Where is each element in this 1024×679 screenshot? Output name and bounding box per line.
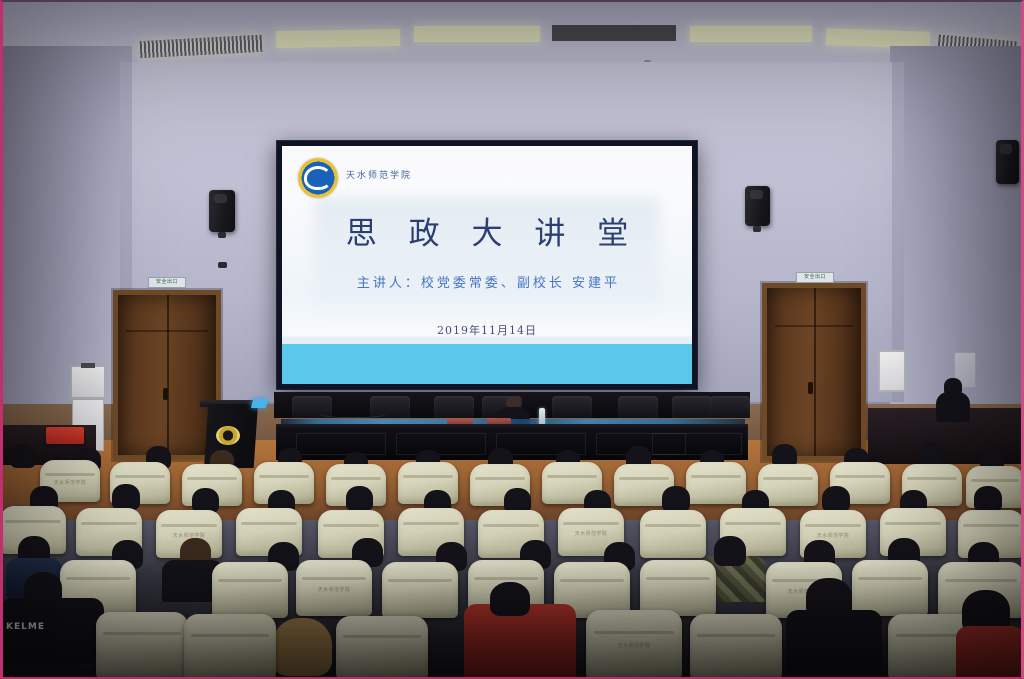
university-logo-icon xyxy=(298,158,338,198)
seat-print: 天水师范学院 xyxy=(800,532,866,539)
exit-sign-right: 安全出口 xyxy=(796,272,834,283)
audience-person xyxy=(490,582,530,616)
audience-person xyxy=(112,484,140,510)
audience-person xyxy=(714,536,746,566)
university-name-label: 天水师范学院 xyxy=(346,168,412,181)
ceiling-light-2 xyxy=(276,29,400,48)
noticeboard-left xyxy=(70,365,106,399)
auditorium-seat xyxy=(690,614,782,679)
seat-print: 天水师范学院 xyxy=(558,530,624,537)
auditorium-seat: 天水师范学院 xyxy=(296,560,372,616)
ceiling-light-3 xyxy=(414,26,540,42)
slide-subtitle-speaker: 主讲人：校党委常委、副校长 安建平 xyxy=(282,272,692,291)
audience-jacket xyxy=(786,610,882,679)
water-bottle-icon xyxy=(539,408,545,425)
audience-person xyxy=(662,486,690,512)
speaker-mount-right xyxy=(753,226,761,232)
audience-person xyxy=(10,444,36,468)
audience-person xyxy=(822,486,850,512)
ceiling-light-4 xyxy=(690,26,812,42)
door-right[interactable] xyxy=(762,283,866,461)
slide-title: 思 政 大 讲 堂 xyxy=(282,208,692,253)
wall-speaker-right-icon xyxy=(745,186,770,226)
auditorium-room: 天水师范学院 思 政 大 讲 堂 主讲人：校党委常委、副校长 安建平 2019年… xyxy=(0,0,1024,679)
auditorium-seat xyxy=(686,462,746,504)
audience-person xyxy=(974,486,1002,512)
auditorium-seat xyxy=(640,560,716,616)
audience-person xyxy=(24,572,62,606)
jacket-brand-label: KELME xyxy=(6,622,45,632)
projection-screen: 天水师范学院 思 政 大 讲 堂 主讲人：校党委常委、副校长 安建平 2019年… xyxy=(277,141,697,389)
exit-sign-left: 安全出口 xyxy=(148,277,186,288)
photo-canvas: 天水师范学院 思 政 大 讲 堂 主讲人：校党委常委、副校长 安建平 2019年… xyxy=(0,0,1024,679)
audience-person-blonde xyxy=(272,618,332,676)
podium-screen-icon xyxy=(251,399,268,408)
seat-print: 天水师范学院 xyxy=(586,642,682,649)
wall-speaker-left-icon xyxy=(209,190,235,232)
door-handle-right[interactable] xyxy=(808,382,813,394)
auditorium-seat xyxy=(852,560,928,616)
auditorium-seat xyxy=(96,612,188,679)
presidium-chair-5 xyxy=(552,396,592,418)
door-handle-left[interactable] xyxy=(163,388,168,400)
ceiling-vent-2 xyxy=(552,25,676,41)
presidium-chair-7 xyxy=(672,396,712,418)
auditorium-seat xyxy=(212,562,288,618)
noticeboard-clip xyxy=(81,363,95,368)
audience-person xyxy=(918,442,944,466)
cable-anchor-left xyxy=(218,262,227,268)
auditorium-seat xyxy=(336,616,428,679)
seat-print: 天水师范学院 xyxy=(40,479,100,486)
door-left[interactable] xyxy=(113,290,221,460)
presidium-chair-8 xyxy=(710,396,750,418)
auditorium-seat: 天水师范学院 xyxy=(586,610,682,679)
speaker-mount-left xyxy=(218,232,226,238)
presidium-chair-6 xyxy=(618,396,658,418)
wall-speaker-corner-icon xyxy=(996,140,1019,184)
auditorium-seat xyxy=(640,510,706,558)
seat-print: 天水师范学院 xyxy=(296,586,372,593)
microphone-cable xyxy=(318,406,388,418)
audience-jacket-kelme: KELME xyxy=(0,598,104,664)
presidium-chair-3 xyxy=(434,396,474,418)
staff-jacket-right xyxy=(936,392,970,422)
slide-bottom-band xyxy=(282,344,692,384)
audience-area: 天水师范学院 xyxy=(0,440,1024,679)
audience-jacket-red-right xyxy=(956,626,1024,679)
slide-date: 2019年11月14日 xyxy=(282,322,692,338)
noticeboard-right xyxy=(878,350,906,392)
auditorium-seat xyxy=(382,562,458,618)
auditorium-seat xyxy=(184,614,276,679)
audience-person xyxy=(346,486,373,511)
presentation-slide: 天水师范学院 思 政 大 讲 堂 主讲人：校党委常委、副校长 安建平 2019年… xyxy=(282,146,692,384)
